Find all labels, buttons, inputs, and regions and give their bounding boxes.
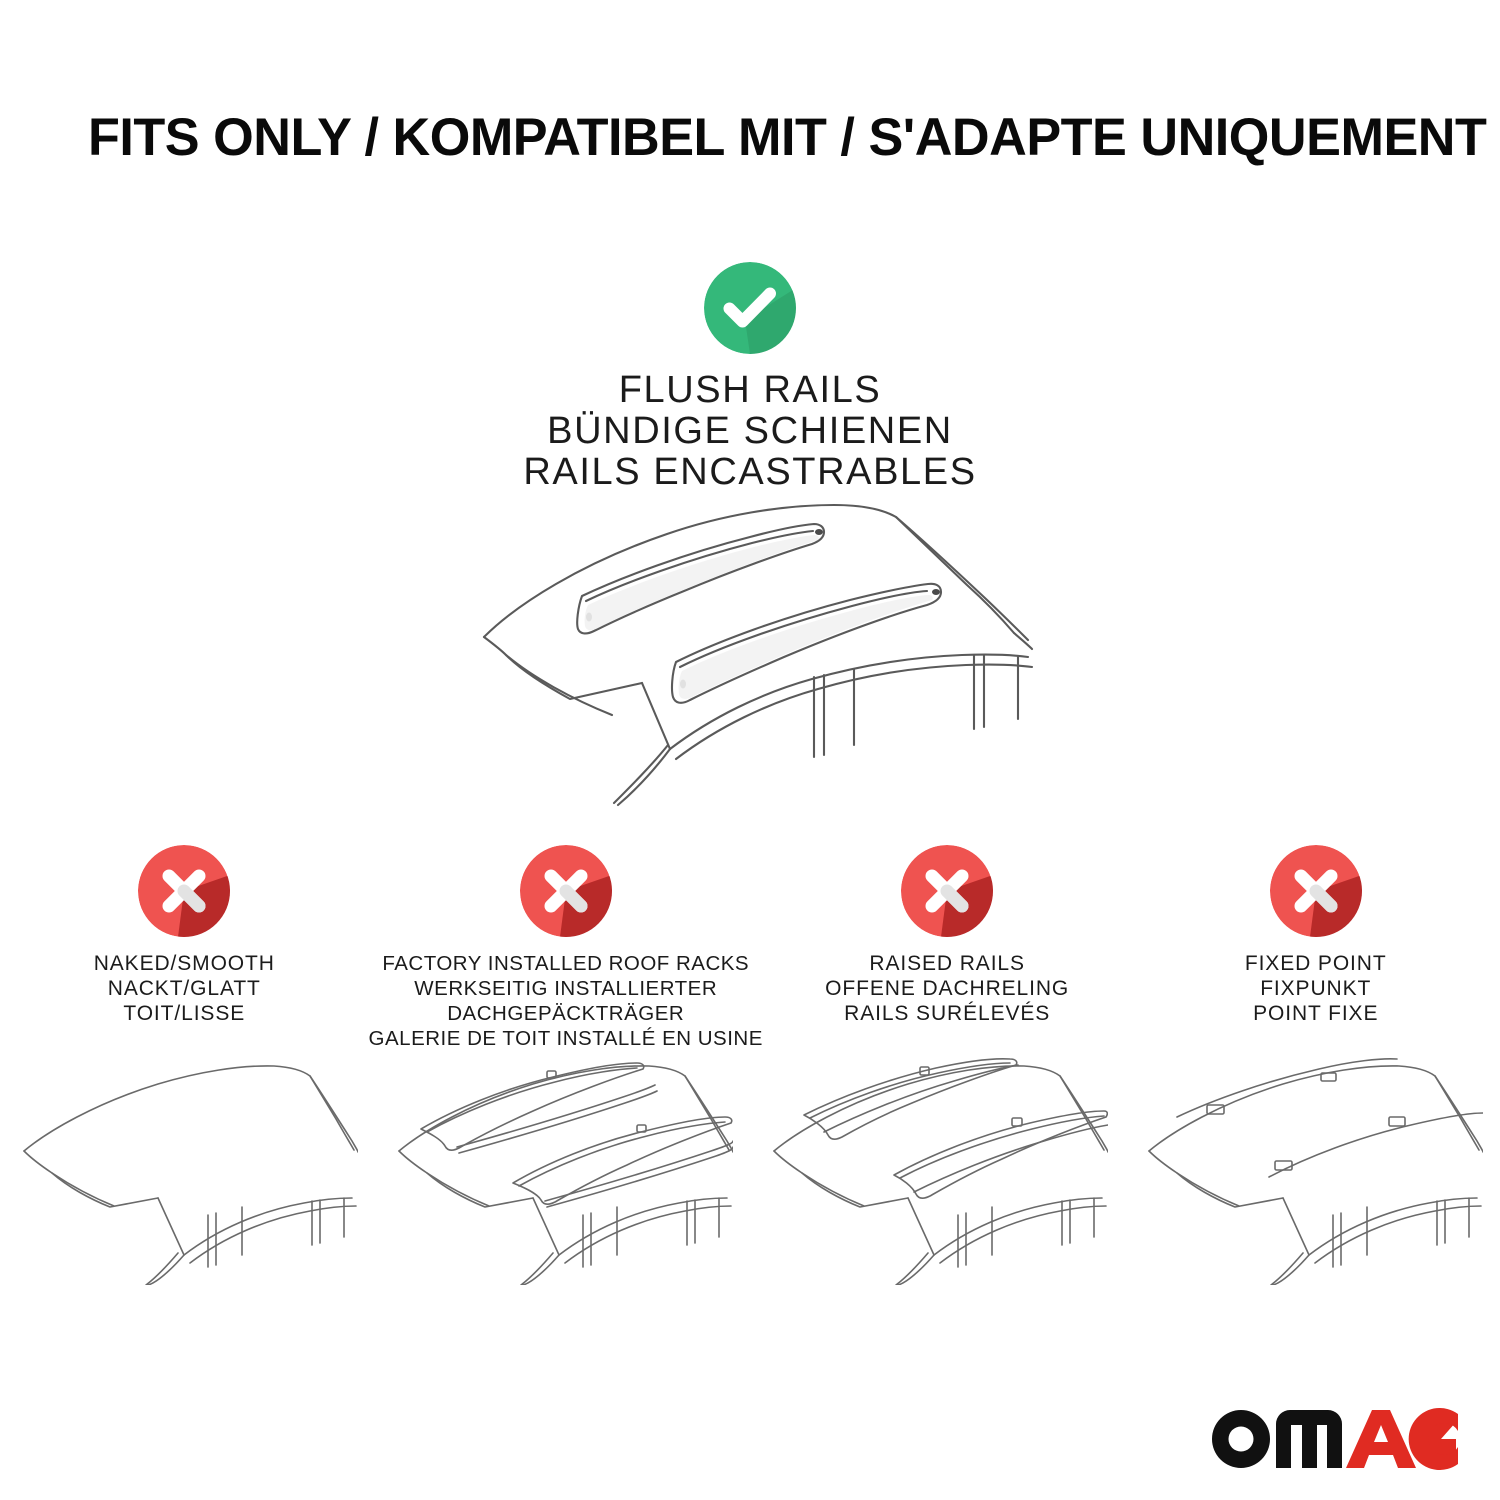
page-title-text: FITS ONLY / KOMPATIBEL MIT / S'ADAPTE UN…	[88, 108, 1408, 168]
rejected-label-line-2: OFFENE DACHRELING	[825, 976, 1069, 1001]
rejected-label-line-3: RAILS SURÉLEVÉS	[825, 1001, 1069, 1026]
red-x-circle-icon	[901, 845, 993, 937]
red-x-circle-icon	[138, 845, 230, 937]
car-roof-raised-rails-illustration	[750, 1055, 1125, 1285]
rejected-illustrations-row	[0, 1055, 1500, 1285]
rejected-item-label: FACTORY INSTALLED ROOF RACKS WERKSEITIG …	[369, 951, 763, 1051]
omac-logo-letter-o	[1212, 1410, 1270, 1468]
x-mark-icon	[520, 845, 612, 937]
rejected-label-line-2: WERKSEITIG INSTALLIERTER	[369, 976, 763, 1001]
rejected-item-raised-rails: RAISED RAILS OFFENE DACHRELING RAILS SUR…	[763, 845, 1132, 1075]
approved-section: FLUSH RAILS BÜNDIGE SCHIENEN RAILS ENCAS…	[0, 262, 1500, 493]
rejected-label-line-2: NACKT/GLATT	[94, 976, 275, 1001]
green-check-circle-icon	[704, 262, 796, 354]
car-roof-with-flush-rails-illustration	[462, 487, 1062, 807]
approved-label-line-2: BÜNDIGE SCHIENEN	[523, 411, 976, 452]
rejected-label-line-1: FIXED POINT	[1245, 951, 1387, 976]
omac-logo	[1210, 1408, 1458, 1470]
omac-logo-letter-c	[1409, 1408, 1458, 1470]
x-mark-icon	[138, 845, 230, 937]
rejected-label-line-1: RAISED RAILS	[825, 951, 1069, 976]
rejected-label-line-3: TOIT/LISSE	[94, 1001, 275, 1026]
rejected-item-label: NAKED/SMOOTH NACKT/GLATT TOIT/LISSE	[94, 951, 275, 1026]
rejected-label-line-2: FIXPUNKT	[1245, 976, 1387, 1001]
rejected-label-line-4: GALERIE DE TOIT INSTALLÉ EN USINE	[369, 1026, 763, 1051]
rejected-item-label: FIXED POINT FIXPUNKT POINT FIXE	[1245, 951, 1387, 1026]
rejected-item-naked-smooth: NAKED/SMOOTH NACKT/GLATT TOIT/LISSE	[0, 845, 369, 1075]
rejected-label-line-1: NAKED/SMOOTH	[94, 951, 275, 976]
red-x-circle-icon	[520, 845, 612, 937]
car-roof-bare-illustration	[0, 1055, 375, 1285]
check-mark-icon	[704, 262, 796, 354]
x-mark-icon	[901, 845, 993, 937]
rejected-item-label: RAISED RAILS OFFENE DACHRELING RAILS SUR…	[825, 951, 1069, 1026]
approved-label-line-1: FLUSH RAILS	[523, 370, 976, 411]
rejected-items-row: NAKED/SMOOTH NACKT/GLATT TOIT/LISSE FACT…	[0, 845, 1500, 1075]
car-roof-fixed-point-illustration	[1125, 1055, 1500, 1285]
x-mark-icon	[1270, 845, 1362, 937]
car-roof-with-crossbars-illustration	[375, 1055, 750, 1285]
omac-logo-letter-m	[1276, 1410, 1342, 1468]
rejected-label-line-1: FACTORY INSTALLED ROOF RACKS	[369, 951, 763, 976]
omac-logo-letter-a	[1346, 1410, 1416, 1468]
red-x-circle-icon	[1270, 845, 1362, 937]
rejected-item-fixed-point: FIXED POINT FIXPUNKT POINT FIXE	[1131, 845, 1500, 1075]
rejected-label-line-3: DACHGEPÄCKTRÄGER	[369, 1001, 763, 1026]
rejected-item-factory-installed-roof-racks: FACTORY INSTALLED ROOF RACKS WERKSEITIG …	[369, 845, 763, 1075]
rejected-label-line-3: POINT FIXE	[1245, 1001, 1387, 1026]
approved-label: FLUSH RAILS BÜNDIGE SCHIENEN RAILS ENCAS…	[523, 370, 976, 493]
page-title: FITS ONLY / KOMPATIBEL MIT / S'ADAPTE UN…	[88, 108, 1428, 168]
